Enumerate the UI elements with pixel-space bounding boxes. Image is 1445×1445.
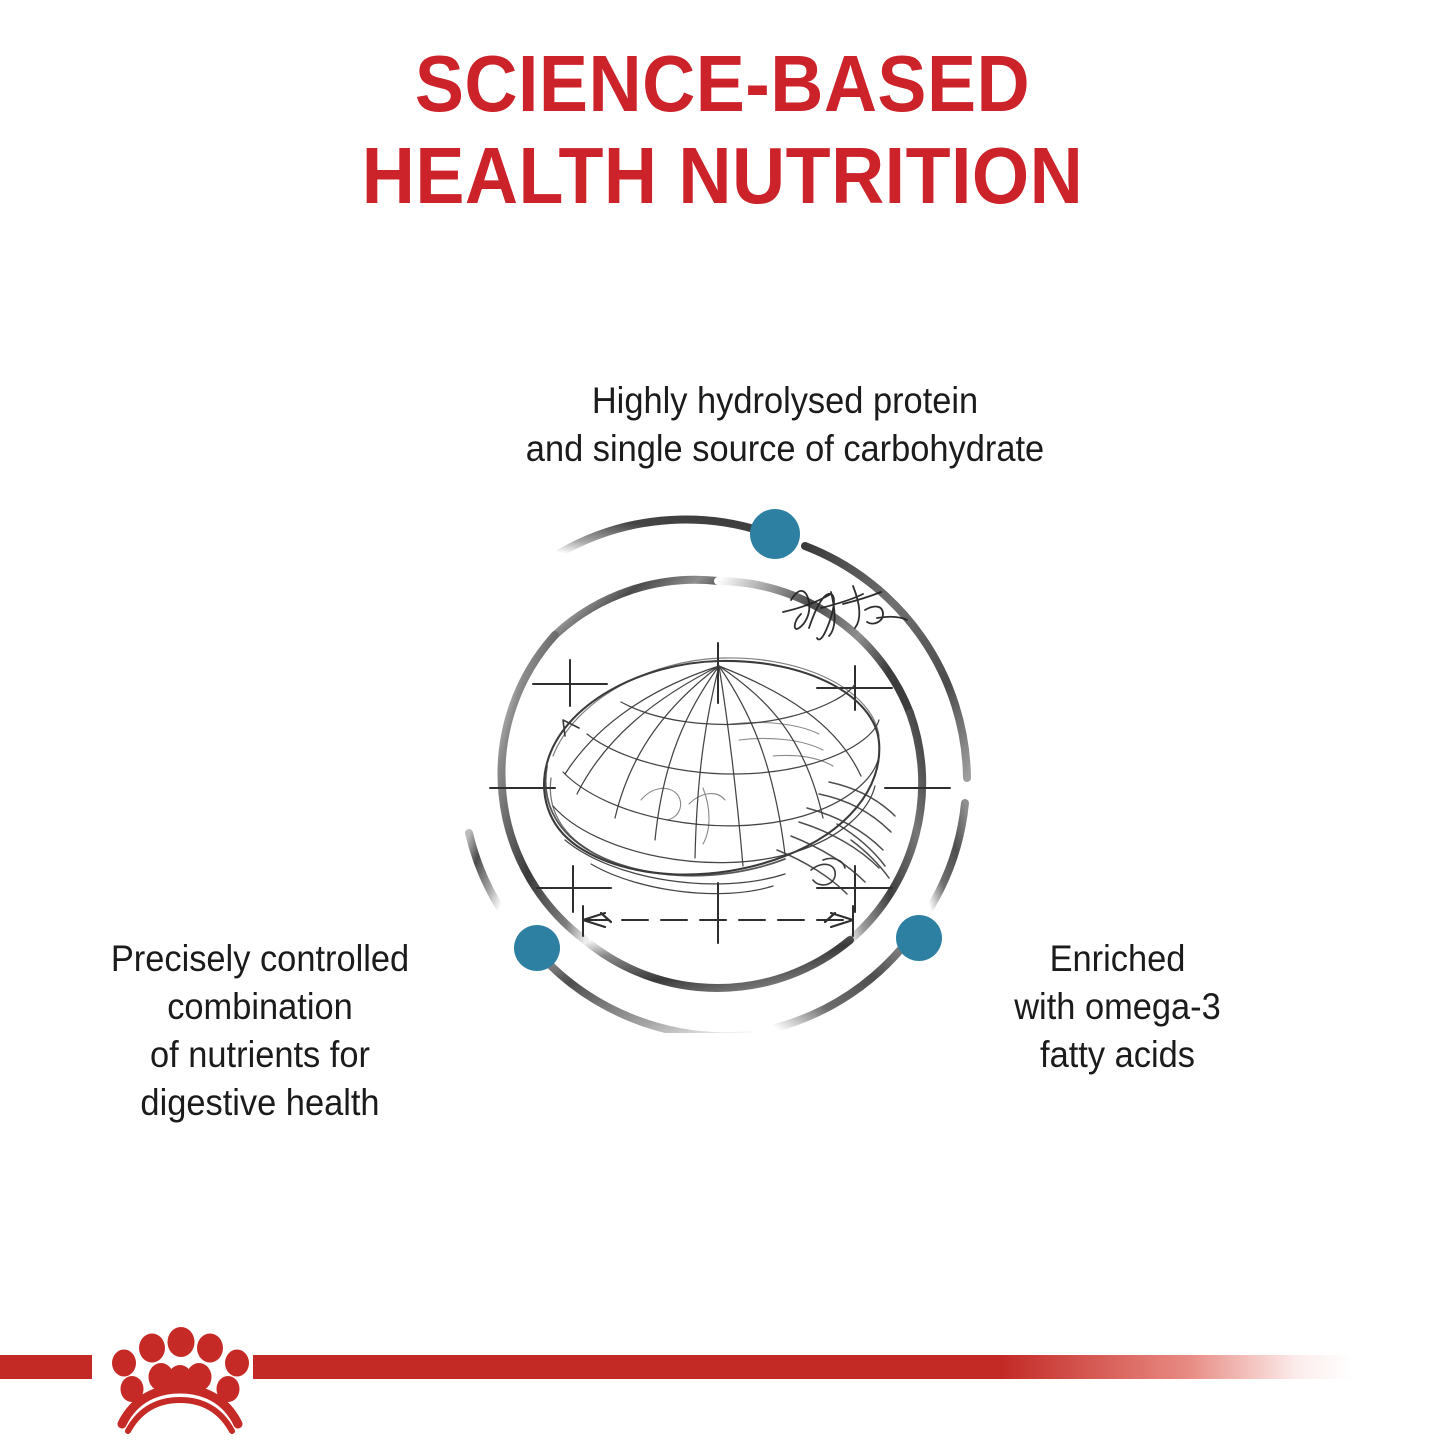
kibble-technical-sketch-diagram xyxy=(455,488,985,1033)
callout-precisely-controlled-nutrients: Precisely controlled combination of nutr… xyxy=(41,935,478,1127)
crosshair-marks xyxy=(490,643,950,943)
footer-accent-bar-right xyxy=(253,1355,1353,1379)
crown-dot-2 xyxy=(139,1334,165,1363)
crown-dot-3 xyxy=(168,1327,195,1357)
marker-dot-top-right xyxy=(750,509,800,559)
crown-dot-5 xyxy=(225,1350,249,1377)
footer-accent-bar-left xyxy=(0,1355,92,1379)
crown-dot-1 xyxy=(112,1350,136,1377)
kibble-outline xyxy=(544,658,879,876)
crown-arc-inner xyxy=(128,1400,232,1431)
kibble-latitude-lines xyxy=(553,684,879,894)
kibble-sketch xyxy=(490,586,950,943)
callout-highly-hydrolysed-protein: Highly hydrolysed protein and single sou… xyxy=(367,377,1204,473)
marker-dot-bottom-left xyxy=(514,925,560,971)
marker-dot-right xyxy=(896,915,942,961)
page-title: SCIENCE-BASED HEALTH NUTRITION xyxy=(58,38,1387,222)
kibble-shading xyxy=(777,782,895,894)
poster-root: SCIENCE-BASED HEALTH NUTRITION xyxy=(0,0,1445,1445)
kibble-longitude-lines xyxy=(565,666,861,866)
crown-dot-4 xyxy=(197,1334,223,1363)
lower-right-scribble xyxy=(811,858,845,885)
callout-enriched-omega-3: Enriched with omega-3 fatty acids xyxy=(952,935,1282,1079)
royal-canin-crown-logo xyxy=(104,1327,256,1435)
inner-ring xyxy=(501,580,922,988)
